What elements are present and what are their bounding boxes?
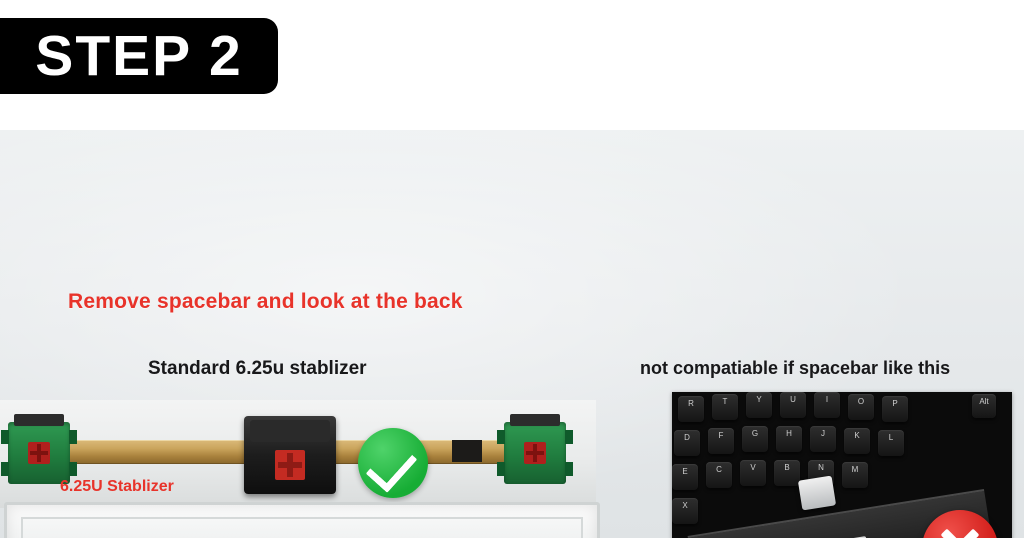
keycap-legend: K	[844, 431, 870, 440]
keycap: V	[740, 460, 766, 486]
keycap-legend: I	[814, 395, 840, 404]
switch-top-housing	[250, 420, 330, 442]
keycap-legend: B	[774, 463, 800, 472]
stabilizer-tab	[565, 430, 573, 444]
keycap: G	[742, 426, 768, 452]
center-switch	[244, 416, 336, 494]
stabilizer-tab	[497, 462, 505, 476]
stabilizer-annotation: 6.25U Stablizer	[60, 478, 174, 496]
keycap: J	[810, 426, 836, 452]
keycap: H	[776, 426, 802, 452]
keycap: X	[672, 498, 698, 524]
incompatible-keyboard-photo: R T Y U I O P D F G H J K L E C V B N M …	[672, 392, 1012, 538]
stabilizer-housing-left	[8, 422, 70, 484]
keycap: T	[712, 394, 738, 420]
keycap-legend: O	[848, 397, 874, 406]
keycap-legend: D	[674, 433, 700, 442]
keycap-legend: G	[742, 429, 768, 438]
keycap: R	[678, 396, 704, 422]
wire-dark-segment	[452, 440, 482, 462]
exposed-switch	[798, 476, 836, 511]
stabilizer-plate-right	[510, 414, 560, 426]
keycap-legend: J	[810, 429, 836, 438]
caption-standard-stabilizer: Standard 6.25u stablizer	[148, 358, 367, 380]
keycap: Y	[746, 392, 772, 418]
stabilizer-plate-left	[14, 414, 64, 426]
stabilizer-tab	[69, 430, 77, 444]
keycap: U	[780, 392, 806, 418]
keycap-legend: X	[672, 501, 698, 510]
keycap: F	[708, 428, 734, 454]
keycap: L	[878, 430, 904, 456]
keycap: O	[848, 394, 874, 420]
keycap-legend: V	[740, 463, 766, 472]
switch-cross-stem	[275, 450, 305, 480]
keycap: M	[842, 462, 868, 488]
keycap: C	[706, 462, 732, 488]
keycap-legend: Y	[746, 395, 772, 404]
check-icon	[358, 428, 428, 498]
keycap: D	[674, 430, 700, 456]
stabilizer-tab	[565, 462, 573, 476]
spacebar-inner-channel	[21, 517, 583, 538]
caption-not-compatible: not compatiable if spacebar like this	[640, 358, 950, 379]
keycap: Alt	[972, 394, 996, 418]
step-badge: STEP 2	[0, 18, 278, 94]
keycap: P	[882, 396, 908, 422]
keycap-legend: F	[708, 431, 734, 440]
keycap: I	[814, 392, 840, 418]
keycap-legend: U	[780, 395, 806, 404]
keycap-legend: P	[882, 399, 908, 408]
stabilizer-housing-right	[504, 422, 566, 484]
instruction-photo-band: Remove spacebar and look at the back Sta…	[0, 130, 1024, 538]
stabilizer-stem-right	[524, 442, 546, 464]
keycap-legend: L	[878, 433, 904, 442]
stabilizer-tab	[1, 430, 9, 444]
keycap-legend: R	[678, 399, 704, 408]
stabilizer-stem-left	[28, 442, 50, 464]
stabilizer-tab	[497, 430, 505, 444]
keycap-legend: H	[776, 429, 802, 438]
keycap: E	[672, 464, 698, 490]
keycap: B	[774, 460, 800, 486]
keycap-legend: N	[808, 463, 834, 472]
keycap-legend: E	[672, 467, 698, 476]
step-badge-label: STEP 2	[35, 28, 242, 85]
keycap-legend: T	[712, 397, 738, 406]
headline-text: Remove spacebar and look at the back	[68, 290, 463, 314]
spacebar-underside: + + + + + +	[4, 502, 600, 538]
keycap-legend: M	[842, 465, 868, 474]
keycap-legend: Alt	[972, 397, 996, 406]
stabilizer-tab	[69, 462, 77, 476]
keycap-legend: C	[706, 465, 732, 474]
stabilizer-tab	[1, 462, 9, 476]
keycap: K	[844, 428, 870, 454]
